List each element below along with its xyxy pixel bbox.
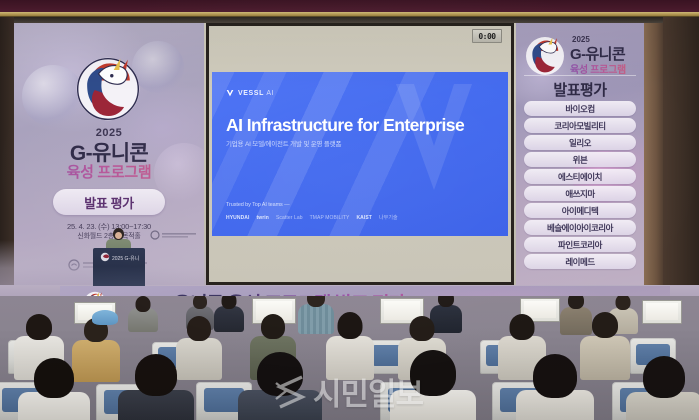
company-name: 위븐	[573, 154, 588, 166]
list-item: 에스티에이치	[524, 169, 636, 184]
list-item: 바이오컴	[524, 101, 636, 116]
person-head	[643, 356, 685, 398]
company-name: 코리아모빌리티	[554, 120, 605, 132]
photo-canvas: 2025 G-유니콘 육성 프로그램 발표 평가 25. 4. 23. (수) …	[0, 0, 699, 420]
angular-s-logo-icon	[272, 373, 308, 409]
company-name: 아이메디텍	[562, 205, 599, 217]
list-item: 아이메디텍	[524, 203, 636, 218]
projection-screen-frame: 0:00 VESSL AI	[206, 23, 514, 285]
left-signage-badge-label: 발표 평가	[84, 193, 133, 212]
slide-brand-name: VESSL	[238, 90, 264, 97]
partner-logo: KAIST	[356, 215, 372, 221]
slide-subtitle: 기업용 AI 모델/에이전트 개발 및 운영 플랫폼	[226, 138, 476, 148]
person-head	[592, 312, 618, 338]
left-signage-subtitle: 육성 프로그램	[14, 161, 204, 182]
presentation-slide: VESSL AI AI Infrastructure for Enterpris…	[212, 72, 508, 236]
svg-text:2025 G-유니콘: 2025 G-유니콘	[112, 255, 139, 262]
right-signage-heading: 발표평가	[516, 79, 644, 100]
audience-person	[128, 296, 158, 330]
watermark: 시민일보	[272, 366, 472, 416]
person-head	[34, 358, 74, 398]
person-head	[533, 354, 577, 398]
partner-logo: 나무기술	[379, 214, 398, 221]
person-head	[568, 296, 584, 309]
list-item: 코리아모빌리티	[524, 118, 636, 133]
person-head	[410, 316, 435, 341]
wall-panel-right	[663, 17, 699, 302]
company-list: 바이오컴 코리아모빌리티 일리오 위븐 에스티에이치 애쓰지마 아이메디텍 베슬…	[524, 101, 636, 271]
person-head	[26, 314, 52, 340]
watermark-publisher: 시민일보	[313, 369, 423, 414]
g-unicorn-horse-logo-icon	[70, 53, 146, 125]
company-name: 에스티에이치	[558, 171, 602, 183]
audience-person	[516, 354, 594, 420]
list-item: 레이메드	[524, 254, 636, 269]
person-head	[338, 312, 363, 339]
slide-brand: VESSL AI	[226, 89, 274, 97]
partner-logo: twrin	[256, 215, 268, 221]
list-item: 일리오	[524, 135, 636, 150]
slide-partner-logos: HYUNDAI twrin Scatter Lab TMAP MOBILITY …	[226, 214, 476, 221]
list-item: 애쓰지마	[524, 186, 636, 201]
person-head	[616, 296, 631, 310]
gyeonggi-institute-logo-icon	[150, 230, 198, 240]
projection-screen-surface: 0:00 VESSL AI	[209, 26, 511, 282]
list-item: 위븐	[524, 152, 636, 167]
person-head	[222, 296, 237, 309]
partner-logo: Scatter Lab	[276, 215, 303, 221]
company-name: 레이메드	[565, 256, 594, 268]
person-head	[187, 316, 211, 341]
partner-logo: HYUNDAI	[226, 215, 249, 221]
right-signage-subtitle: 육성 프로그램	[570, 61, 626, 76]
slide-trusted-label: Trusted by Top AI teams —	[226, 202, 290, 208]
list-item: 베슬에이아이코리아	[524, 220, 636, 235]
company-name: 바이오컴	[565, 103, 594, 115]
list-item: 파인트코리아	[524, 237, 636, 252]
partner-logo: TMAP MOBILITY	[310, 215, 350, 221]
company-name: 파인트코리아	[558, 239, 602, 251]
g-unicorn-horse-logo-icon	[522, 34, 568, 78]
company-name: 일리오	[569, 137, 591, 149]
person-head	[135, 354, 177, 396]
left-signage-badge: 발표 평가	[53, 189, 165, 215]
laptop	[642, 300, 682, 324]
speaker-face	[115, 232, 122, 239]
divider	[524, 75, 636, 76]
right-signage-panel: 2025 G-유니콘 육성 프로그램 발표평가 바이오컴 코리아모빌리티 일리오…	[516, 23, 644, 285]
person-head	[193, 296, 207, 309]
company-name: 베슬에이아이코리아	[547, 222, 613, 234]
person-head	[510, 314, 535, 340]
led-clock-display: 0:00	[472, 29, 502, 43]
vessl-v-logo-icon	[226, 89, 234, 97]
person-head	[261, 314, 285, 339]
led-clock-value: 0:00	[478, 32, 495, 41]
audience-person-cap	[92, 310, 118, 330]
slide-brand-suffix: AI	[266, 90, 274, 97]
slide-title: AI Infrastructure for Enterprise	[226, 116, 494, 135]
wall-column-right	[643, 17, 665, 302]
audience-person	[18, 358, 90, 420]
audience-person	[626, 356, 699, 420]
audience-person	[118, 354, 194, 420]
person-head	[136, 296, 151, 312]
company-name: 애쓰지마	[565, 188, 594, 200]
g-unicorn-podium-logo-icon: 2025 G-유니콘	[99, 252, 139, 263]
audience-person	[326, 312, 374, 374]
baseball-cap-icon	[92, 310, 118, 325]
